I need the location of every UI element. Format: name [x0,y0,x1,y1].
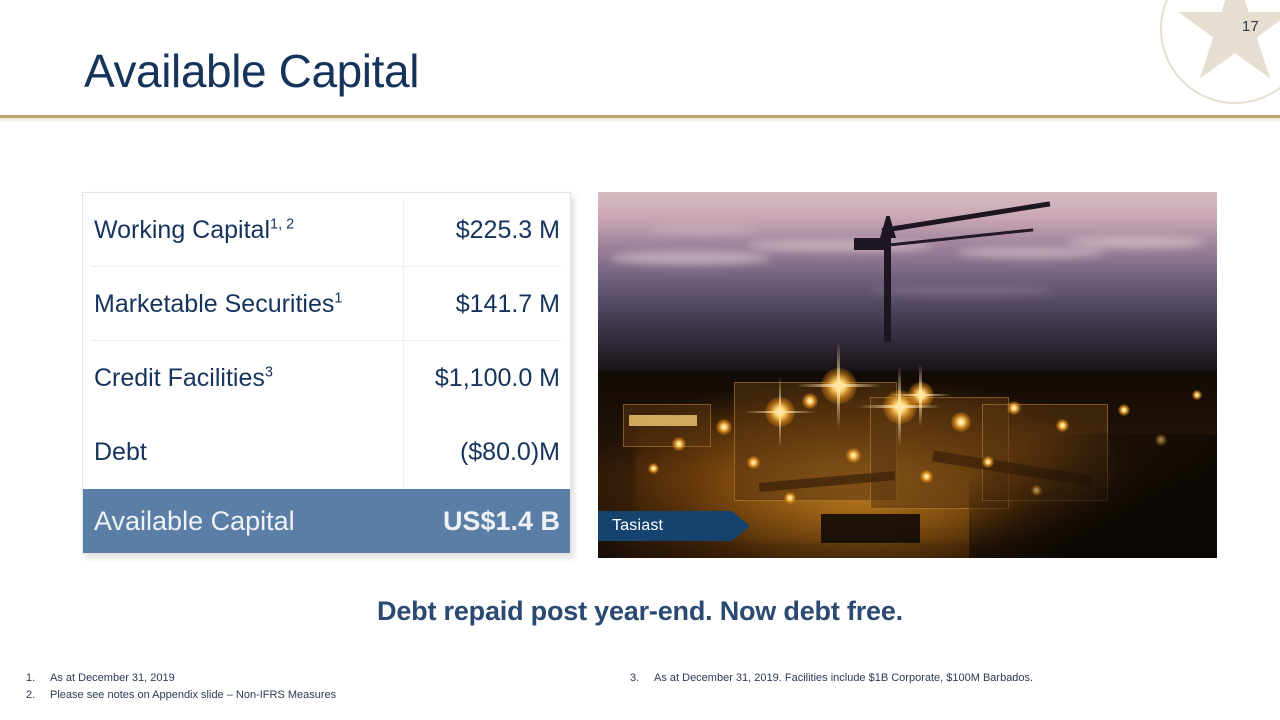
headline-statement: Debt repaid post year-end. Now debt free… [0,596,1280,627]
star-emblem [1160,0,1280,104]
cloud [610,251,771,266]
flood-light [951,412,971,432]
crane-silhouette-icon [854,212,1074,342]
row-label-text: Credit Facilities [94,364,265,392]
flood-light [908,382,934,408]
row-value: $1,100.0 M [403,364,570,393]
row-label-text: Working Capital [94,216,270,244]
row-label-text: Marketable Securities [94,290,334,318]
flood-light [747,456,760,469]
site-caption-label: Tasiast [598,517,663,535]
row-label: Credit Facilities3 [83,364,403,393]
photo-foreground-shadow [969,434,1217,558]
flood-light [1192,390,1202,400]
flood-light [846,448,861,463]
flood-light [716,419,732,435]
footnote-item: 3. As at December 31, 2019. Facilities i… [630,670,1230,687]
footnote-number: 3. [630,670,654,687]
row-label-text: Debt [94,438,147,466]
footnote-number: 2. [26,687,50,704]
star-icon [1177,0,1280,87]
table-row: Credit Facilities3 $1,100.0 M [83,341,570,415]
table-total-row: Available Capital US$1.4 B [83,489,570,553]
truck-silhouette [821,514,920,543]
crane-jib-lower [884,228,1033,247]
emblem-ring-icon [1160,0,1280,104]
title-divider-shadow [0,118,1280,123]
row-value: ($80.0)M [403,438,570,467]
row-footnote-marker: 1 [334,290,342,306]
cloud [1068,236,1204,249]
footnote-item: 1. As at December 31, 2019 [26,670,586,687]
flood-light [920,470,933,483]
footnote-number: 1. [26,670,50,687]
footnote-text: Please see notes on Appendix slide – Non… [50,687,586,704]
available-capital-table: Working Capital1, 2 $225.3 M Marketable … [82,192,571,554]
flood-light [784,492,796,504]
row-footnote-marker: 3 [265,364,273,380]
table-row: Marketable Securities1 $141.7 M [83,267,570,341]
footnote-item: 2. Please see notes on Appendix slide – … [26,687,586,704]
table-row: Debt ($80.0)M [83,415,570,489]
page-number: 17 [1242,18,1259,35]
crane-mast [884,234,891,342]
footnote-text: As at December 31, 2019. Facilities incl… [654,670,1230,687]
cloud [648,225,759,234]
table-row: Working Capital1, 2 $225.3 M [83,193,570,267]
row-label: Marketable Securities1 [83,290,403,319]
flood-light [648,463,659,474]
page-title: Available Capital [84,46,419,97]
row-footnote-marker: 1, 2 [270,216,294,232]
total-value: US$1.4 B [403,506,570,537]
site-caption-banner: Tasiast [598,511,750,541]
flood-light [821,368,857,404]
mine-site-photo: Tasiast [598,192,1217,558]
total-label: Available Capital [83,506,403,537]
building-window-strip [629,415,697,426]
footnote-text: As at December 31, 2019 [50,670,586,687]
crane-counterweight [854,238,888,250]
footnotes-left: 1. As at December 31, 2019 2. Please see… [26,670,586,704]
flood-light [1056,419,1069,432]
flood-light [1007,401,1021,415]
row-label: Working Capital1, 2 [83,216,403,245]
footnotes-right: 3. As at December 31, 2019. Facilities i… [630,670,1230,687]
row-label: Debt [83,438,403,467]
row-value: $225.3 M [403,216,570,245]
flood-light [765,397,795,427]
row-value: $141.7 M [403,290,570,319]
